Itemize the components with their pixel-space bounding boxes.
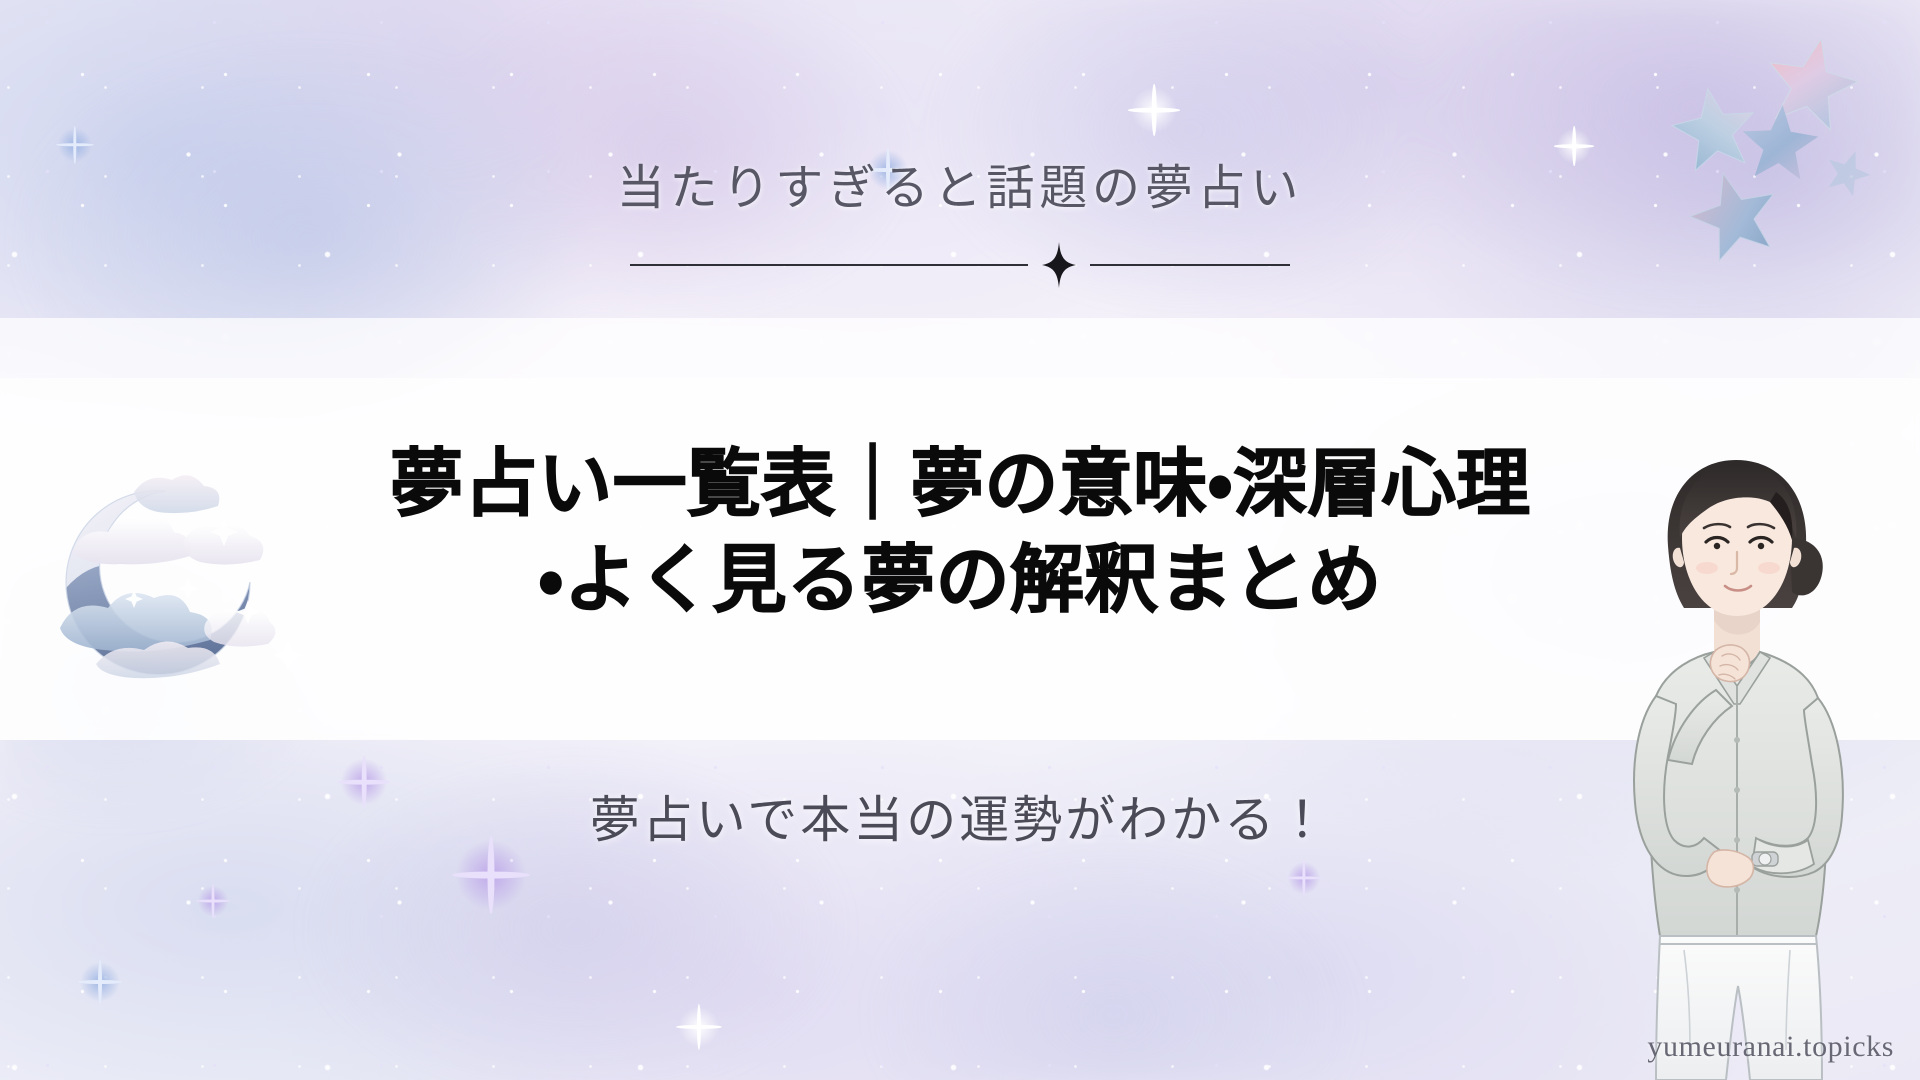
- highlight-band-top: [0, 318, 1920, 378]
- hero-banner: 当たりすぎると話題の夢占い 夢占い一覧表｜夢の意味・深層心理 ・よく見る夢の解釈…: [0, 0, 1920, 1080]
- tagline-block: 当たりすぎると話題の夢占い: [0, 160, 1920, 288]
- site-watermark: yumeuranai.topicks: [1647, 1030, 1894, 1064]
- divider: [630, 242, 1290, 288]
- sparkle-icon: [196, 884, 230, 918]
- sparkle-icon: [56, 126, 94, 164]
- four-point-sparkle-icon: [1042, 242, 1076, 288]
- sparkle-icon: [1128, 84, 1180, 136]
- sparkle-icon: [1286, 860, 1322, 896]
- divider-rule-left: [630, 264, 1028, 266]
- tagline-text: 当たりすぎると話題の夢占い: [617, 160, 1303, 218]
- page-title-line-1: 夢占い一覧表｜夢の意味・深層心理: [180, 436, 1740, 532]
- divider-rule-right: [1090, 264, 1290, 266]
- woman-thinking-illustration: [1564, 420, 1904, 1080]
- sparkle-icon: [676, 1004, 722, 1050]
- page-title-line-2: ・よく見る夢の解釈まとめ: [180, 532, 1740, 628]
- sparkle-icon: [78, 960, 122, 1004]
